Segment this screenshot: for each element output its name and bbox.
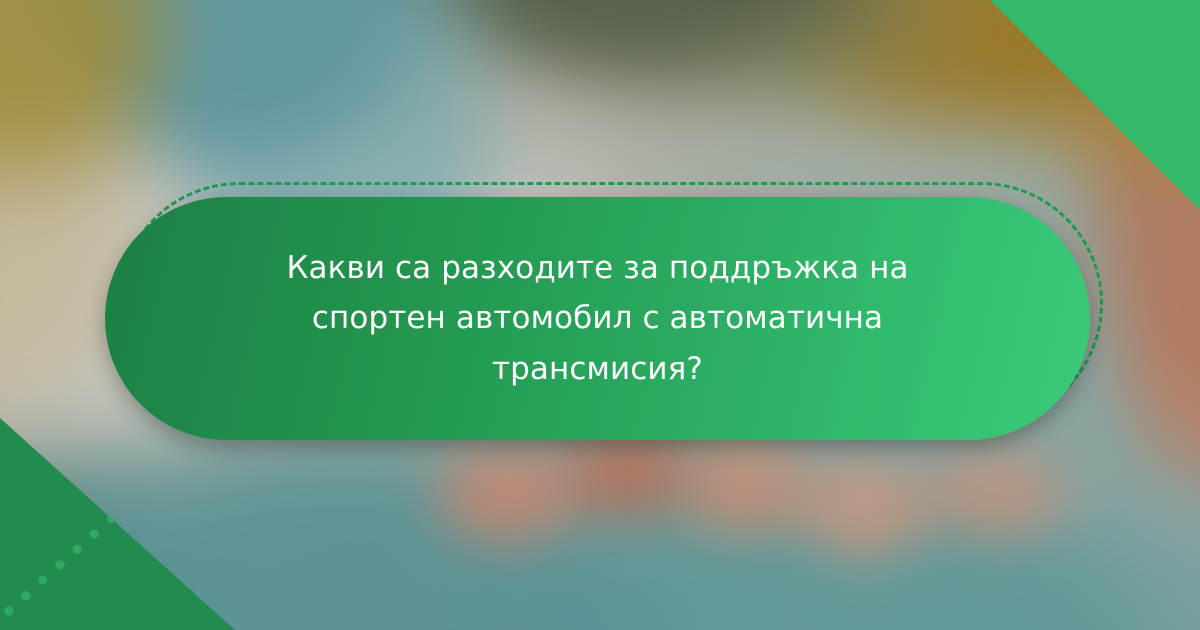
social-card-canvas: Какви са разходите за поддръжка на спорт… — [0, 0, 1200, 630]
bead-dot — [70, 543, 83, 556]
bead-dot — [2, 604, 15, 617]
question-card-wrapper: Какви са разходите за поддръжка на спорт… — [105, 197, 1090, 440]
bead-dot — [53, 558, 66, 571]
question-text: Какви са разходите за поддръжка на спорт… — [218, 243, 978, 394]
bead-dot — [19, 589, 32, 602]
dotted-bead-line-top-right — [976, 0, 1200, 5]
bead-dot — [36, 573, 49, 586]
question-card: Какви са разходите за поддръжка на спорт… — [105, 197, 1090, 440]
bead-dot — [88, 527, 101, 540]
